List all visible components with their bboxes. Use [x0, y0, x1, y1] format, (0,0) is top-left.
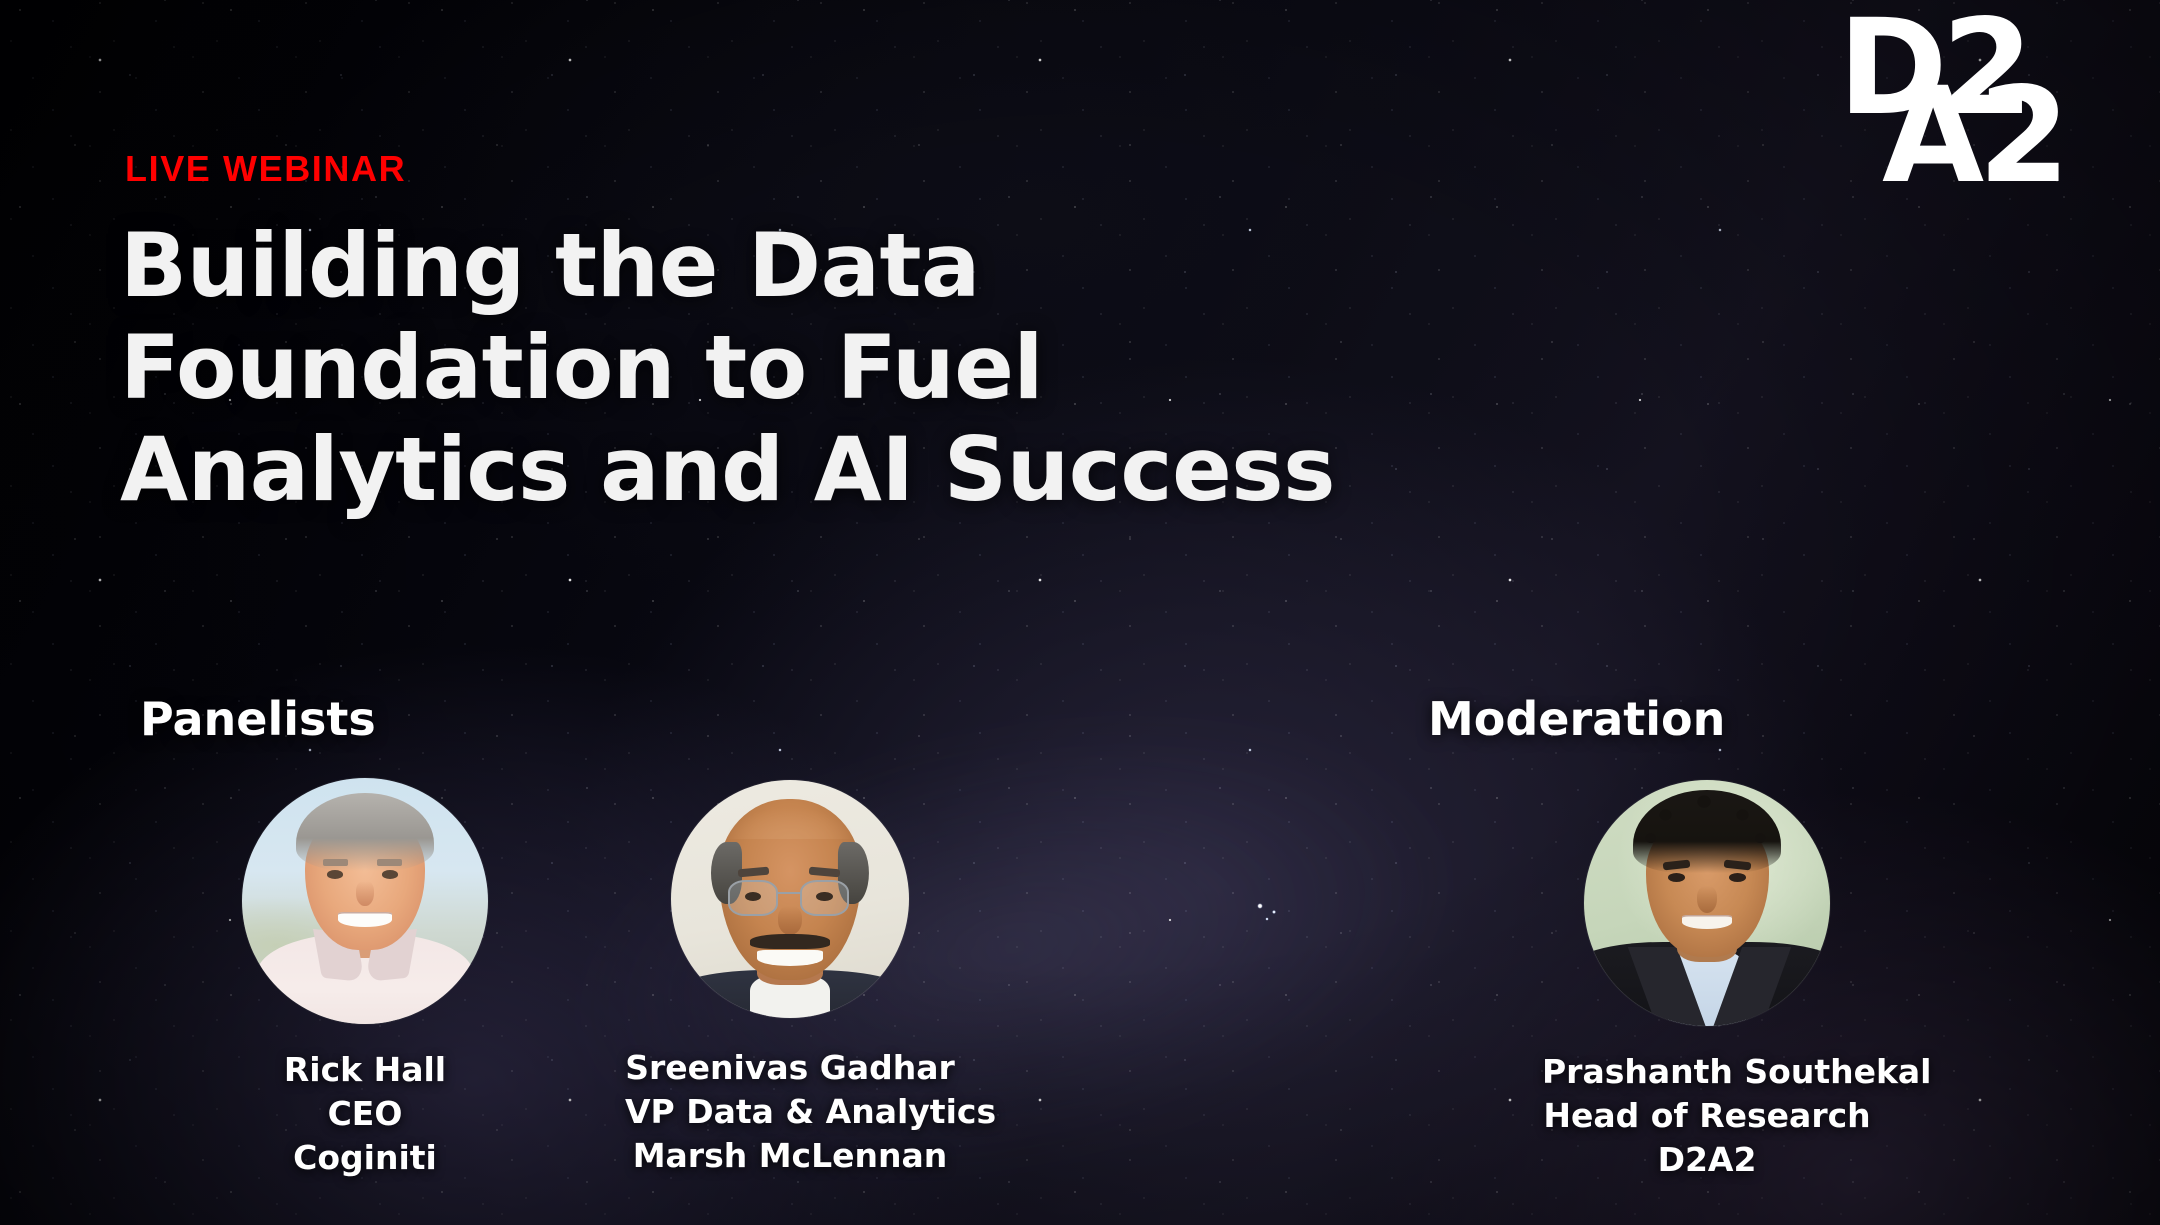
panelists-heading: Panelists	[140, 692, 376, 746]
photo-mouth	[757, 950, 824, 965]
photo-nose	[356, 881, 373, 906]
moderator-card-prashanth-southekal: Prashanth Southekal Head of Research D2A…	[1542, 780, 1872, 1182]
d2a2-logo: D2 A2	[1838, 14, 2088, 204]
avatar-prashanth-southekal	[1584, 780, 1830, 1026]
headshot-prashanth-southekal	[1584, 780, 1830, 1026]
panelist-details: Sreenivas Gadhar VP Data & Analytics Mar…	[625, 1046, 955, 1178]
panelist-company: Coginiti	[200, 1136, 530, 1180]
moderator-company: D2A2	[1542, 1138, 1872, 1182]
photo-eye-left	[327, 870, 343, 878]
panelist-company: Marsh McLennan	[625, 1134, 955, 1178]
moderator-role: Head of Research	[1542, 1094, 1872, 1138]
photo-eyeglass-bridge	[778, 892, 802, 895]
avatar-rick-hall	[242, 778, 488, 1024]
title-line-2: Foundation to Fuel	[120, 317, 1400, 419]
moderator-details: Prashanth Southekal Head of Research D2A…	[1542, 1050, 1872, 1182]
headshot-rick-hall	[242, 778, 488, 1024]
page-title: Building the Data Foundation to Fuel Ana…	[120, 215, 1400, 521]
panelist-role: CEO	[200, 1092, 530, 1136]
webinar-promo-slide: D2 A2 LIVE WEBINAR Building the Data Fou…	[0, 0, 2160, 1225]
photo-hair	[296, 793, 434, 872]
photo-nose	[1697, 886, 1717, 913]
panelist-card-sreenivas-gadhar: Sreenivas Gadhar VP Data & Analytics Mar…	[625, 780, 955, 1178]
title-line-3: Analytics and AI Success	[120, 419, 1400, 521]
panelist-name: Sreenivas Gadhar	[625, 1046, 955, 1090]
panelist-role: VP Data & Analytics	[625, 1090, 955, 1134]
photo-mouth	[1682, 915, 1731, 929]
logo-text-a2: A2	[1882, 82, 2064, 190]
moderator-name: Prashanth Southekal	[1542, 1050, 1872, 1094]
headshot-sreenivas-gadhar	[671, 780, 909, 1018]
title-line-1: Building the Data	[120, 215, 1400, 317]
avatar-sreenivas-gadhar	[671, 780, 909, 1018]
photo-mustache	[750, 934, 831, 949]
photo-nose	[778, 906, 802, 935]
photo-mouth	[338, 912, 392, 927]
photo-scalp	[728, 797, 852, 840]
moderation-heading: Moderation	[1428, 692, 1725, 746]
photo-brow-right	[377, 859, 402, 865]
panelist-card-rick-hall: Rick Hall CEO Coginiti	[200, 778, 530, 1180]
panelist-details: Rick Hall CEO Coginiti	[200, 1048, 530, 1180]
live-webinar-eyebrow: LIVE WEBINAR	[125, 148, 406, 190]
photo-eye-right	[382, 870, 398, 878]
panelist-name: Rick Hall	[200, 1048, 530, 1092]
photo-brow-left	[323, 859, 348, 865]
